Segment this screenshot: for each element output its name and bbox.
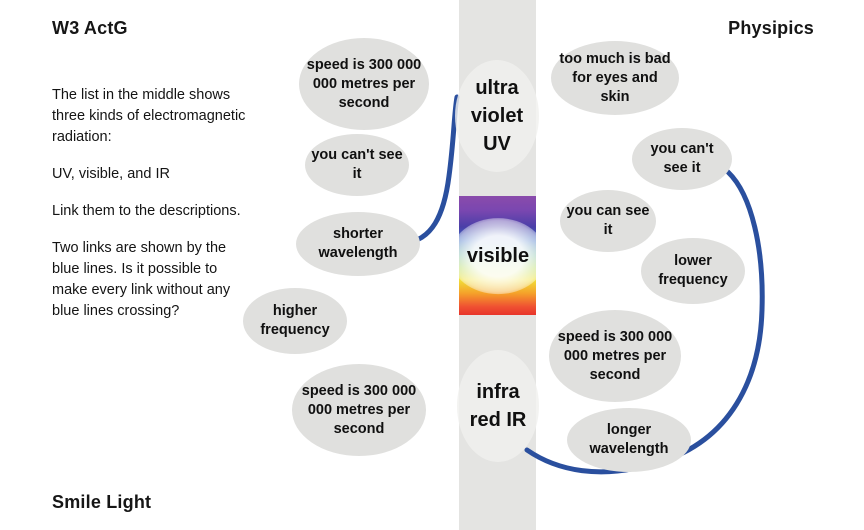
bubble-ultra-violet-label: ultra violet UV	[461, 74, 533, 158]
bubble-right-cannot-see-label: you can't see it	[638, 140, 726, 178]
bubble-right-can-see-label: you can see it	[566, 202, 650, 240]
bubble-infra-red-label: infra red IR	[463, 378, 533, 434]
instruction-paragraph-4: Two links are shown by the blue lines. I…	[52, 238, 252, 322]
bubble-right-lower-frequency[interactable]: lower frequency	[641, 238, 745, 304]
bubble-left-speed-2[interactable]: speed is 300 000 000 metres per second	[292, 364, 426, 456]
bubble-right-too-much[interactable]: too much is bad for eyes and skin	[551, 41, 679, 115]
bubble-visible[interactable]: visible	[452, 212, 544, 300]
bubble-left-shorter-wavelength-label: shorter wavelength	[302, 225, 414, 263]
bubble-left-speed-2-label: speed is 300 000 000 metres per second	[298, 382, 420, 439]
link-shorter-wavelength-to-uv[interactable]	[404, 97, 457, 243]
bubble-right-can-see[interactable]: you can see it	[560, 190, 656, 252]
bubble-left-higher-frequency-label: higher frequency	[249, 302, 341, 340]
bubble-right-speed-label: speed is 300 000 000 metres per second	[555, 328, 675, 385]
instruction-paragraph-2: UV, visible, and IR	[52, 164, 252, 185]
page-title-top-right: Physipics	[728, 18, 814, 39]
bubble-left-cannot-see[interactable]: you can't see it	[305, 134, 409, 196]
bubble-left-speed[interactable]: speed is 300 000 000 metres per second	[299, 38, 429, 130]
bubble-infra-red[interactable]: infra red IR	[457, 350, 539, 462]
bubble-left-shorter-wavelength[interactable]: shorter wavelength	[296, 212, 420, 276]
bubble-left-cannot-see-label: you can't see it	[311, 146, 403, 184]
instruction-paragraph-3: Link them to the descriptions.	[52, 201, 252, 222]
bubble-left-higher-frequency[interactable]: higher frequency	[243, 288, 347, 354]
bubble-right-speed[interactable]: speed is 300 000 000 metres per second	[549, 310, 681, 402]
page-title-bottom-left: Smile Light	[52, 492, 151, 513]
bubble-right-longer-wavelength[interactable]: longer wavelength	[567, 408, 691, 472]
bubble-right-lower-frequency-label: lower frequency	[647, 252, 739, 290]
worksheet-canvas: W3 ActG Physipics Smile Light The list i…	[0, 0, 864, 530]
instruction-paragraph-1: The list in the middle shows three kinds…	[52, 85, 252, 148]
bubble-visible-label: visible	[458, 242, 538, 270]
bubble-right-longer-wavelength-label: longer wavelength	[573, 421, 685, 459]
page-title-top-left: W3 ActG	[52, 18, 128, 39]
bubble-right-too-much-label: too much is bad for eyes and skin	[557, 50, 673, 107]
bubble-left-speed-label: speed is 300 000 000 metres per second	[305, 56, 423, 113]
instructions-block: The list in the middle shows three kinds…	[52, 85, 252, 322]
bubble-right-cannot-see[interactable]: you can't see it	[632, 128, 732, 190]
bubble-ultra-violet[interactable]: ultra violet UV	[455, 60, 539, 172]
